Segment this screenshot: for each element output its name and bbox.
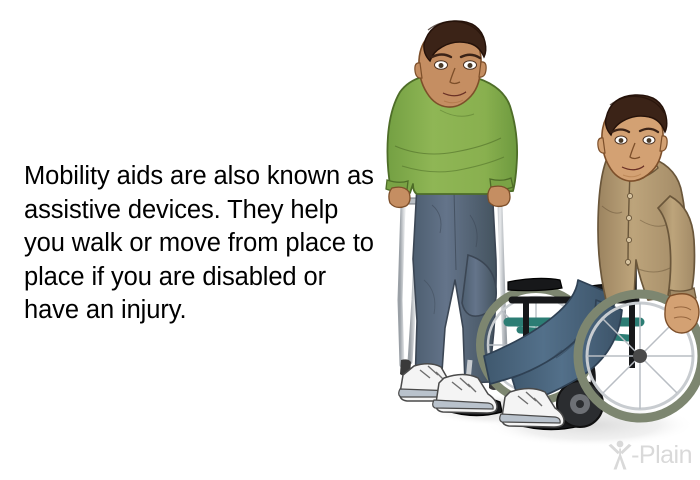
- x-plain-logo-text: -Plain: [631, 443, 692, 468]
- x-plain-figure-icon: [606, 439, 634, 471]
- illustration-svg: [340, 0, 700, 480]
- x-plain-logo: -Plain: [606, 438, 692, 472]
- illustration-page: Mobility aids are also known as assistiv…: [0, 0, 700, 480]
- man-with-crutches: [386, 21, 517, 401]
- wheelchair-man-hand: [665, 294, 699, 333]
- illustration-artwork: [340, 0, 700, 480]
- caption-text: Mobility aids are also known as assistiv…: [24, 160, 376, 328]
